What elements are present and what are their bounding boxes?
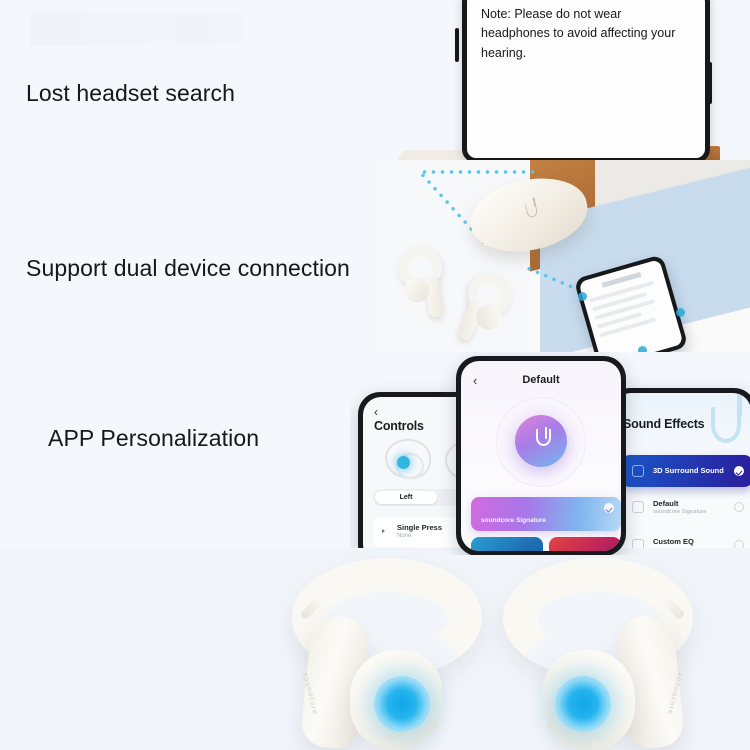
- control-row-title: Single Press: [397, 523, 442, 532]
- sound-effect-label: Default: [653, 499, 678, 508]
- sound-effect-label: 3D Surround Sound: [653, 466, 724, 475]
- chevron-right-icon: [382, 529, 385, 533]
- product-feature-page: Lost headset search Note: Please do not …: [0, 0, 750, 750]
- eq-card-podcast[interactable]: Podcast: [471, 537, 543, 551]
- feature-headline-dual-device: Support dual device connection: [26, 255, 350, 282]
- sound-effects-title: Sound Effects: [623, 417, 704, 431]
- back-chevron-icon[interactable]: ‹: [374, 405, 378, 419]
- controls-title: Controls: [374, 419, 424, 433]
- touch-zone-indicator: [397, 456, 410, 469]
- eq-card-signature[interactable]: soundcore Signature: [471, 497, 621, 531]
- app-phone-default-eq: ‹ Default soundcore Signature Podcast Tr…: [456, 356, 626, 555]
- check-icon: [734, 466, 744, 476]
- app-phone-sound-effects: Sound Effects 3D Surround Sound Default …: [608, 388, 750, 555]
- eq-card-treble-booster[interactable]: Treble Booster: [549, 537, 621, 551]
- ghost-watermark-band-secondary: [175, 14, 243, 44]
- feature-image-smart-touch: soundcore soundcore soundcore soundcore: [0, 548, 750, 750]
- connection-node-icon: [676, 308, 685, 317]
- music-note-icon: [711, 407, 741, 443]
- phone-side-button-top: [455, 28, 459, 62]
- sound-effect-item-selected[interactable]: 3D Surround Sound: [621, 455, 750, 487]
- feature-headline-app-personalization: APP Personalization: [48, 425, 259, 452]
- feature-image-dual-device: [380, 160, 750, 352]
- radio-icon[interactable]: [734, 502, 744, 512]
- connection-node-icon: [578, 292, 587, 301]
- sound-effect-label: Custom EQ: [653, 537, 694, 546]
- sound-effect-sublabel: soundcore Signature: [653, 509, 707, 515]
- tab-left[interactable]: Left: [375, 491, 437, 504]
- default-eq-title: Default: [461, 374, 621, 386]
- music-note-orb-icon: [515, 415, 567, 467]
- phone-frame-note: Note: Please do not wear headphones to a…: [462, 0, 710, 163]
- sound-effects-screen: Sound Effects 3D Surround Sound Default …: [613, 393, 750, 555]
- feature-image-app-personalization: ‹ Controls Left Right Single Press None: [350, 352, 750, 555]
- feature-image-lost-headset-search: Note: Please do not wear headphones to a…: [462, 0, 710, 163]
- warning-note-text: Note: Please do not wear headphones to a…: [481, 5, 693, 63]
- check-icon: [604, 503, 614, 513]
- connection-dots-horizontal: [420, 170, 540, 174]
- soundcore-logo-icon: [524, 202, 538, 218]
- eq-card-label: soundcore Signature: [481, 517, 546, 524]
- sound-effect-item-default[interactable]: Default soundcore Signature: [621, 495, 750, 525]
- equalizer-icon: [632, 501, 644, 513]
- smart-touch-earbud-right: soundcore soundcore: [458, 554, 693, 750]
- surround-icon: [632, 465, 644, 477]
- control-row-subtitle: None: [397, 533, 411, 539]
- feature-headline-lost-headset-search: Lost headset search: [26, 80, 235, 107]
- default-eq-screen: ‹ Default soundcore Signature Podcast Tr…: [461, 361, 621, 551]
